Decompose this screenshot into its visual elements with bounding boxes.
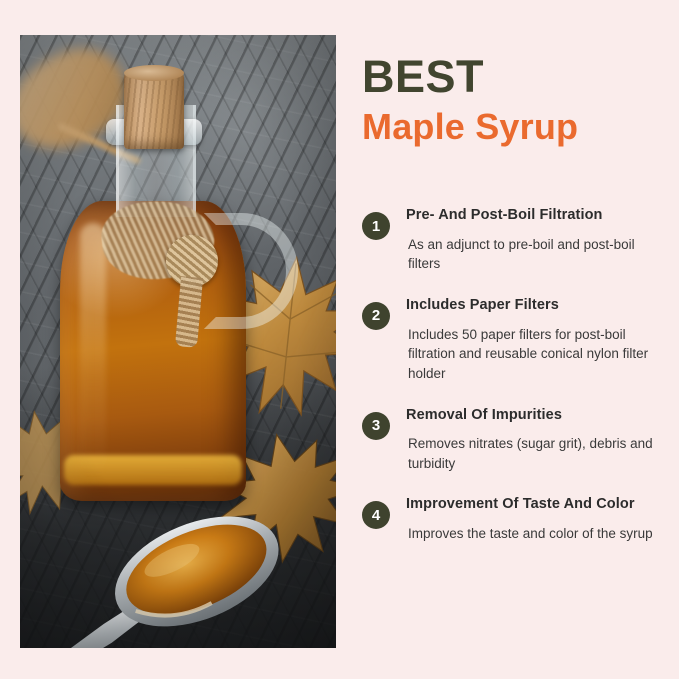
feature-item: 3 Removal Of Impurities Removes nitrates… (362, 406, 662, 474)
feature-item: 4 Improvement Of Taste And Color Improve… (362, 495, 662, 543)
feature-description: Includes 50 paper filters for post-boil … (408, 325, 662, 384)
bottle-shine (80, 223, 106, 478)
feature-number-badge: 3 (362, 412, 390, 440)
cork-stopper (124, 71, 184, 149)
product-infographic: BEST Maple Syrup 1 Pre- And Post-Boil Fi… (0, 0, 679, 679)
feature-description: Removes nitrates (sugar grit), debris an… (408, 434, 662, 473)
feature-list: 1 Pre- And Post-Boil Filtration As an ad… (362, 206, 662, 566)
cork-top (124, 65, 184, 81)
feature-number-badge: 4 (362, 501, 390, 529)
syrup-bottle (54, 63, 254, 503)
page-title-sub: Maple Syrup (362, 107, 578, 147)
page-title-main: BEST (362, 54, 578, 99)
photo-canvas (20, 35, 336, 648)
product-photo (20, 35, 336, 648)
feature-number-badge: 2 (362, 302, 390, 330)
feature-title: Pre- And Post-Boil Filtration (406, 206, 662, 225)
feature-number-badge: 1 (362, 212, 390, 240)
feature-description: Improves the taste and color of the syru… (408, 524, 662, 544)
feature-item: 1 Pre- And Post-Boil Filtration As an ad… (362, 206, 662, 274)
content-column: BEST Maple Syrup 1 Pre- And Post-Boil Fi… (362, 0, 662, 679)
feature-description: As an adjunct to pre-boil and post-boil … (408, 235, 662, 274)
feature-item: 2 Includes Paper Filters Includes 50 pap… (362, 296, 662, 384)
feature-title: Improvement Of Taste And Color (406, 495, 662, 514)
feature-title: Includes Paper Filters (406, 296, 662, 315)
feature-title: Removal Of Impurities (406, 406, 662, 425)
title-block: BEST Maple Syrup (362, 54, 578, 147)
